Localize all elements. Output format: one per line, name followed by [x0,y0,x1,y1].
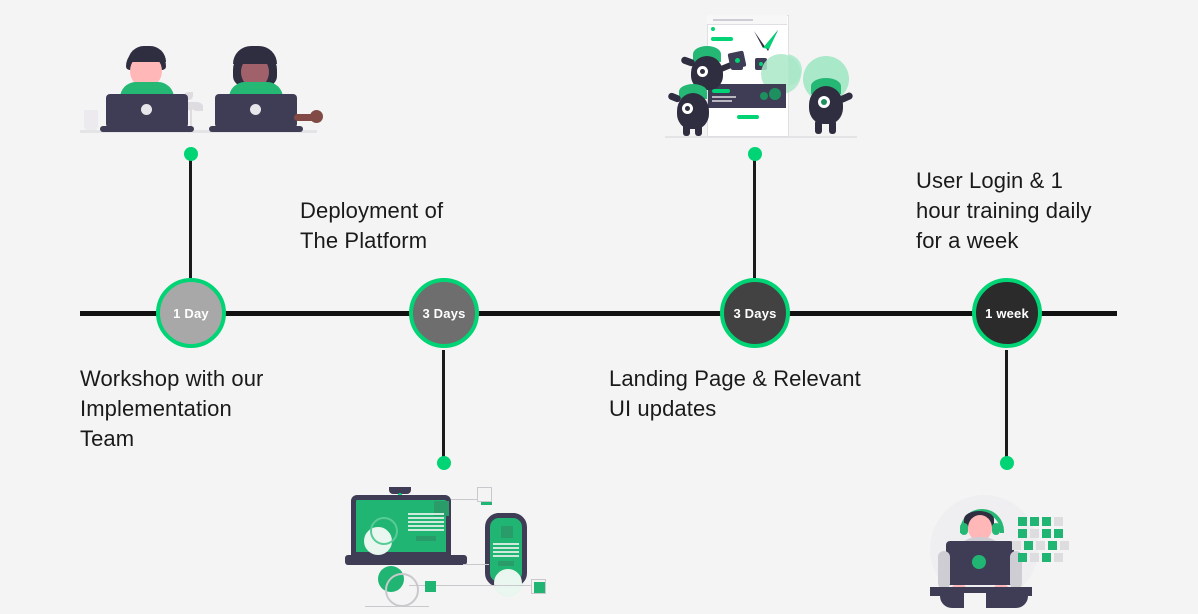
pixel-dot [1048,541,1057,550]
illustration-two-people-at-laptops [80,30,320,140]
pupil [821,99,827,105]
pupil [700,69,705,74]
laptop-base [209,126,303,132]
pixel-dot [1054,553,1063,562]
hand [310,110,323,123]
milestone-badge-2[interactable]: 3 Days [409,278,479,348]
illustration-laptop-and-phone-devices [345,485,550,610]
caption-line: Landing Page & Relevant [609,364,909,394]
cup-icon [84,110,98,130]
leg [695,124,702,136]
laptop-logo [250,104,261,115]
caption-line: The Platform [300,226,550,256]
caption-line: Team [80,424,350,454]
phone-text-line [493,551,519,553]
pixel-dot [1036,541,1045,550]
pixel-dot [1042,517,1051,526]
timeline-axis [80,311,1117,316]
connector-dot-2 [437,456,451,470]
hair-front [233,46,277,64]
milestone-caption-1: Workshop with our Implementation Team [80,364,350,454]
pixel-dot [1030,553,1039,562]
illustration-person-with-headphones-at-laptop [920,495,1075,610]
footer-subline [712,96,736,98]
footer-dot [769,88,781,100]
footer-subline [712,100,732,102]
ground-line [365,606,429,607]
illustration-creatures-building-webpage [665,12,860,140]
caption-line: UI updates [609,394,909,424]
milestone-badge-3[interactable]: 3 Days [720,278,790,348]
pixel-dot [1018,517,1027,526]
milestone-badge-label-3: 3 Days [733,306,776,321]
connector-line-2 [442,350,445,462]
caption-line: Workshop with our [80,364,350,394]
pixel-dot [1054,529,1063,538]
laptop-base [100,126,194,132]
pixel-dot [1030,529,1039,538]
leg [829,120,836,134]
caption-line: Deployment of [300,196,550,226]
tile-accent [735,58,740,63]
checkmark-icon [753,29,779,51]
phone-text-line [493,547,519,549]
milestone-badge-label-2: 3 Days [422,306,465,321]
phone-tile [501,526,513,538]
milestone-badge-1[interactable]: 1 Day [156,278,226,348]
footer-line [712,89,730,93]
connector-line-1 [189,154,192,278]
leg [683,124,690,136]
milestone-badge-label-4: 1 week [985,306,1029,321]
desk-highlight [964,593,986,609]
headphone-earcup [992,523,1000,535]
milestone-badge-4[interactable]: 1 week [972,278,1042,348]
phone-notch [497,513,515,518]
screen-text-line [408,517,444,519]
milestone-badge-label-1: 1 Day [173,306,209,321]
arm-left [938,551,950,589]
milestone-caption-3: Landing Page & Relevant UI updates [609,364,909,424]
phone-avatar [494,569,522,597]
caption-line: for a week [916,226,1146,256]
leg [815,120,822,134]
caption-line: User Login & 1 [916,166,1146,196]
connector-line-3 [753,154,756,278]
wire-node [534,582,545,593]
milestone-caption-4: User Login & 1 hour training daily for a… [916,166,1146,256]
caption-line: hour training daily [916,196,1146,226]
wire-node-outline [477,487,492,502]
screen-text-line [408,521,444,523]
pixel-dot [1024,541,1033,550]
laptop-logo [141,104,152,115]
pixel-dot [1042,529,1051,538]
laptop-logo [972,555,986,569]
screen-avatar-ring [370,517,398,545]
milestone-caption-2: Deployment of The Platform [300,196,550,256]
titlebar-line [713,19,753,21]
screen-text-line [408,529,444,531]
footer-dot [760,92,768,100]
timeline-diagram: 1 Day 3 Days 3 Days 1 week Workshop with… [0,0,1198,614]
wire-node [425,581,436,592]
headphone-earcup [960,523,968,535]
screen-text-line [408,513,444,515]
laptop-base [345,555,467,565]
pixel-dot [1030,517,1039,526]
pixel-dot [1060,541,1069,550]
content-accent-line [711,37,733,41]
browser-dot [711,27,715,31]
hair-top [128,46,166,62]
wire [463,564,489,565]
pixel-dot [1042,553,1051,562]
screen-text-line [408,525,444,527]
content-accent-line [737,115,759,119]
pixel-dot [1018,553,1027,562]
plant-leaf [191,102,203,111]
connector-dot-3 [748,147,762,161]
caption-line: Implementation [80,394,350,424]
connector-line-4 [1005,350,1008,462]
pixel-dot [1012,541,1021,550]
screen-button [416,536,436,541]
phone-text-line [493,543,519,545]
phone-text-line [493,555,519,557]
connector-dot-4 [1000,456,1014,470]
decorative-ring [385,573,419,607]
connector-dot-1 [184,147,198,161]
phone-button [498,561,514,566]
pupil [685,106,690,111]
pixel-dot [1018,529,1027,538]
pixel-dot [1054,517,1063,526]
